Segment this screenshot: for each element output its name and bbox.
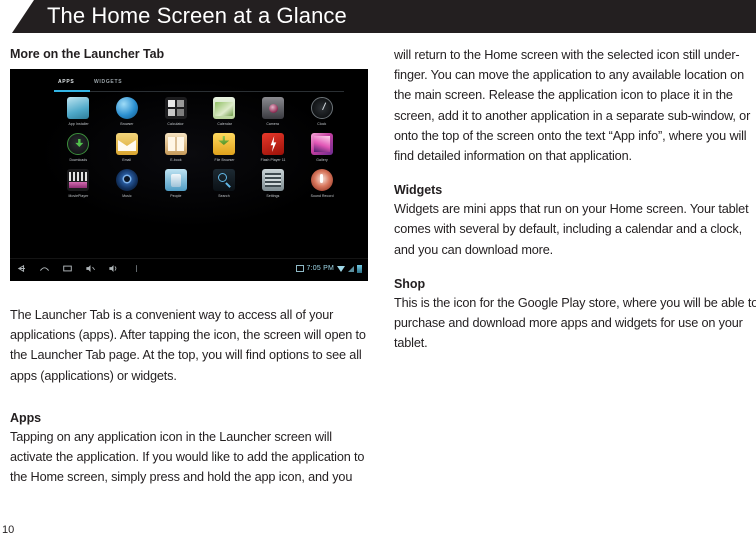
calendar-icon (213, 97, 235, 119)
app-label: Camera (267, 122, 280, 126)
calculator-icon (165, 97, 187, 119)
app-cell: People (151, 169, 200, 198)
tab-widgets: WIDGETS (94, 79, 122, 85)
app-label: Calculator (167, 122, 183, 126)
launcher-tabs: APPS WIDGETS (54, 79, 344, 95)
app-cell: Sound Record (297, 169, 346, 198)
app-label: Sound Record (310, 194, 333, 198)
settings-icon (262, 169, 284, 191)
app-cell: Camera (249, 97, 298, 126)
spacer (10, 386, 376, 410)
downloads-icon (67, 133, 89, 155)
app-cell: Email (103, 133, 152, 162)
menu-icon (131, 263, 142, 274)
app-label: Search (219, 194, 230, 198)
clock-icon (311, 97, 333, 119)
heading-apps: Apps (10, 410, 376, 426)
page-number: 10 (2, 524, 14, 537)
app-label: Email (122, 158, 131, 162)
app-label: Clock (317, 122, 326, 126)
app-label: Calendar (217, 122, 232, 126)
left-column: More on the Launcher Tab APPS WIDGETS Ap… (10, 33, 376, 487)
page-title: The Home Screen at a Glance (47, 3, 347, 29)
music-icon (116, 169, 138, 191)
status-clock: 7:05 PM (307, 264, 334, 273)
android-system-bar: 7:05 PM (10, 258, 368, 281)
flash-player-icon (262, 133, 284, 155)
sound-record-icon (311, 169, 333, 191)
paragraph-shop: This is the icon for the Google Play sto… (394, 293, 756, 354)
app-label: Settings (266, 194, 279, 198)
paragraph-widgets: Widgets are mini apps that run on your H… (394, 199, 756, 260)
volume-down-icon (85, 263, 96, 274)
system-bar-right-status: 7:05 PM (296, 264, 362, 273)
paragraph-launcher-tab: The Launcher Tab is a convenient way to … (10, 305, 376, 386)
app-cell: Downloads (54, 133, 103, 162)
movie-player-icon (67, 169, 89, 191)
app-icon-grid: App Installer Browser Calculator Calenda… (54, 97, 346, 198)
volume-up-icon (108, 263, 119, 274)
app-label: App Installer (68, 122, 88, 126)
ebook-icon (165, 133, 187, 155)
heading-widgets: Widgets (394, 182, 756, 198)
gallery-icon (311, 133, 333, 155)
browser-icon (116, 97, 138, 119)
heading-more-on-launcher-tab: More on the Launcher Tab (10, 33, 376, 62)
page-body: More on the Launcher Tab APPS WIDGETS Ap… (0, 33, 756, 539)
app-label: File Browser (214, 158, 234, 162)
camera-icon (262, 97, 284, 119)
app-cell: App Installer (54, 97, 103, 126)
launcher-tab-screenshot: APPS WIDGETS App Installer Browser Calcu… (10, 69, 368, 281)
app-label: E-book (170, 158, 181, 162)
right-column: will return to the Home screen with the … (394, 33, 756, 353)
app-cell: Gallery (297, 133, 346, 162)
spacer (394, 166, 756, 182)
app-cell: MoviePlayer (54, 169, 103, 198)
heading-shop: Shop (394, 276, 756, 292)
app-cell: Calculator (151, 97, 200, 126)
paragraph-apps: Tapping on any application icon in the L… (10, 427, 376, 488)
battery-icon (357, 265, 362, 273)
tab-apps: APPS (58, 79, 74, 85)
spacer (10, 281, 376, 305)
back-icon (16, 263, 27, 274)
app-label: People (170, 194, 181, 198)
app-label: Downloads (69, 158, 87, 162)
wifi-icon (337, 266, 345, 272)
app-cell: File Browser (200, 133, 249, 162)
app-cell: Music (103, 169, 152, 198)
signal-icon (348, 266, 354, 272)
app-installer-icon (67, 97, 89, 119)
email-icon (116, 133, 138, 155)
app-cell: Clock (297, 97, 346, 126)
app-cell: Flash Player 11 (249, 133, 298, 162)
app-label: Music (122, 194, 131, 198)
spacer (394, 33, 756, 45)
system-bar-left-icons (16, 263, 142, 274)
app-label: Flash Player 11 (261, 158, 286, 162)
paragraph-continued: will return to the Home screen with the … (394, 45, 756, 166)
search-icon (213, 169, 235, 191)
app-cell: E-book (151, 133, 200, 162)
screenshot-icon (296, 265, 304, 272)
app-label: Gallery (316, 158, 327, 162)
tab-divider-rule (90, 91, 344, 92)
people-icon (165, 169, 187, 191)
app-cell: Calendar (200, 97, 249, 126)
tab-selected-underline (54, 90, 90, 92)
app-cell: Settings (249, 169, 298, 198)
spacer (394, 260, 756, 276)
app-cell: Search (200, 169, 249, 198)
app-label: Browser (120, 122, 133, 126)
home-icon (39, 263, 50, 274)
file-browser-icon (213, 133, 235, 155)
app-label: MoviePlayer (68, 194, 88, 198)
app-cell: Browser (103, 97, 152, 126)
recents-icon (62, 263, 73, 274)
